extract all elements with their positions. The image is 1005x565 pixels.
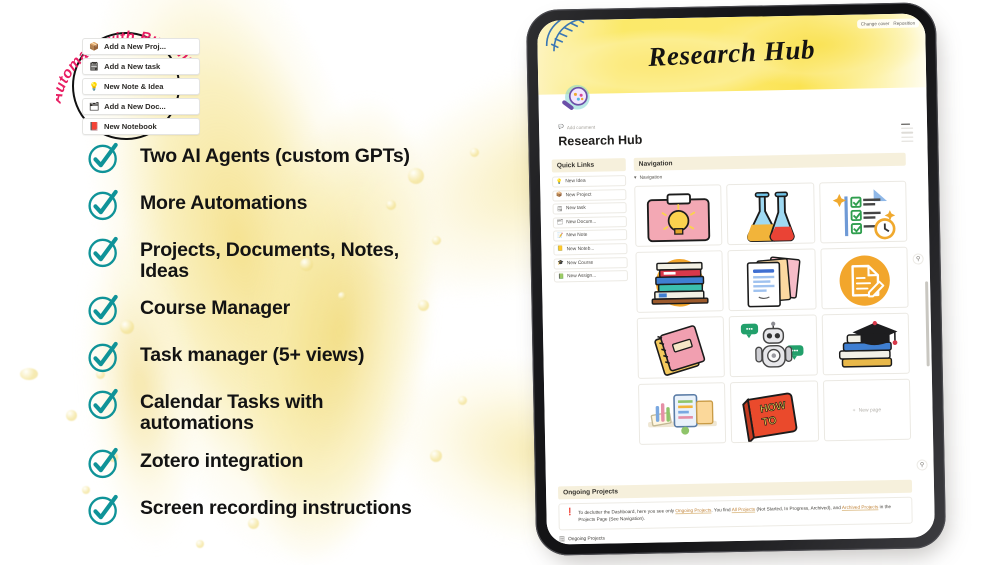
nav-card-quick-capture[interactable]: 🗃 Quick Capture <box>634 184 722 247</box>
button-label: Add a New Doc... <box>104 102 166 111</box>
button-add-new-task[interactable]: 🗒 Add a New task <box>82 58 200 75</box>
assignment-icon: 📗 <box>558 274 564 280</box>
feature-item: Screen recording instructions <box>86 494 516 528</box>
quick-link-label: New Project <box>566 192 592 197</box>
button-label: New Note & Idea <box>104 82 164 91</box>
desk-art <box>639 383 726 445</box>
feature-label: Course Manager <box>140 294 290 319</box>
quick-links-list: 💡 New Idea 📦 New Project 🗒 New task <box>552 175 628 283</box>
link-archived-projects[interactable]: Archived Projects <box>842 504 879 510</box>
graduation-icon: 🎓 <box>558 260 564 266</box>
note-circle-art <box>821 248 908 310</box>
link-all-projects[interactable]: All Projects <box>732 507 756 512</box>
quick-link-new-document[interactable]: 🗂 New Docum... <box>553 216 627 228</box>
nav-card-notebooks[interactable]: 📒 Notebooks <box>637 316 725 379</box>
comment-icon: 💬 <box>558 124 564 130</box>
navigation-card-grid: 🗃 Quick Capture <box>634 181 911 445</box>
filter-icon[interactable]: ⚲ <box>913 253 924 264</box>
robot-art: ••• ••• <box>730 315 817 377</box>
feature-label: Task manager (5+ views) <box>140 341 364 366</box>
warning-icon: ❗ <box>565 509 574 524</box>
quick-links-heading: Quick Links <box>552 158 626 172</box>
feature-label: Projects, Documents, Notes, Ideas <box>140 236 408 281</box>
button-label: Add a New Proj... <box>104 42 166 51</box>
scrollbar[interactable] <box>925 281 929 366</box>
reposition-button[interactable]: Reposition <box>893 21 915 26</box>
tablet-screen: Research Hub Change cover Reposition <box>537 13 935 544</box>
add-comment-row[interactable]: 💬 Add comment <box>558 124 595 131</box>
tablet-frame: Research Hub Change cover Reposition <box>526 2 946 556</box>
bulb-icon: 💡 <box>556 179 562 185</box>
check-circle-icon <box>86 386 122 422</box>
callout-text-2: . You find <box>711 507 731 512</box>
cover-title: Research Hub <box>537 29 926 78</box>
quick-link-label: New Noteb... <box>567 247 595 253</box>
clipboard-bulb-art <box>635 185 722 247</box>
navigation-toggle[interactable]: ▾ Navigation <box>634 170 906 181</box>
quick-link-label: New Assign... <box>567 274 596 280</box>
feature-item: Calendar Tasks with automations <box>86 388 516 433</box>
page-columns: Quick Links 💡 New Idea 📦 New Project <box>552 153 911 447</box>
nav-card-new-page[interactable]: + New page <box>823 379 911 442</box>
check-circle-icon <box>86 140 122 176</box>
feature-item: Task manager (5+ views) <box>86 341 516 375</box>
nav-card-courses[interactable]: 🎓 Courses <box>821 313 909 376</box>
new-page-label: New page <box>859 407 882 413</box>
bulb-icon: 💡 <box>89 83 99 91</box>
nav-card-reading-list[interactable]: 📚 Reading List <box>635 250 723 313</box>
callout-text-4: (Not Started, In Progress, Archived), an… <box>755 505 842 512</box>
quick-links-column: Quick Links 💡 New Idea 📦 New Project <box>552 158 631 446</box>
feature-label: Two AI Agents (custom GPTs) <box>140 142 410 167</box>
navigation-toggle-label: Navigation <box>640 175 663 180</box>
button-label: New Notebook <box>104 122 157 131</box>
automate-buttons-badge: Automate with Buttons 📦 Add a New Proj..… <box>62 8 202 148</box>
button-new-notebook[interactable]: 📕 New Notebook <box>82 118 200 135</box>
button-label: Add a New task <box>104 62 160 71</box>
documents-icon: 🗂 <box>89 103 99 111</box>
navigation-column: Navigation ▾ Navigation <box>634 153 911 445</box>
ongoing-projects-database-row[interactable]: 🗄 Ongoing Projects <box>559 528 913 542</box>
notion-page: Research Hub Change cover Reposition <box>537 13 935 544</box>
feature-list: Two AI Agents (custom GPTs) More Automat… <box>86 142 516 541</box>
database-icon: 🗄 <box>559 537 565 542</box>
check-circle-icon <box>86 492 122 528</box>
navigation-heading: Navigation <box>634 153 906 171</box>
quick-link-label: New Docum... <box>566 219 596 225</box>
ongoing-projects-heading: Ongoing Projects <box>558 480 912 500</box>
button-add-new-doc[interactable]: 🗂 Add a New Doc... <box>82 98 200 115</box>
button-add-new-project[interactable]: 📦 Add a New Proj... <box>82 38 200 55</box>
feature-item: More Automations <box>86 189 516 223</box>
feature-item: Projects, Documents, Notes, Ideas <box>86 236 516 281</box>
notebook-icon: 📒 <box>557 247 563 253</box>
notebooks-art <box>638 317 725 379</box>
note-icon: 📝 <box>557 233 563 239</box>
check-circle-icon <box>86 292 122 328</box>
cover-controls: Change cover Reposition <box>857 18 919 28</box>
book-stack-art <box>636 251 723 313</box>
tablet-mockup: Research Hub Change cover Reposition <box>526 2 946 556</box>
table-of-contents-indicator[interactable] <box>901 123 917 144</box>
check-circle-icon <box>86 445 122 481</box>
checklist-icon: 🗒 <box>89 63 99 71</box>
svg-text:TO: TO <box>762 414 778 428</box>
magnifier-icon[interactable] <box>556 82 595 121</box>
chevron-down-icon: ▾ <box>634 175 637 181</box>
feature-item: Course Manager <box>86 294 516 328</box>
quick-link-new-task[interactable]: 🗒 New task <box>553 202 627 214</box>
feature-label: Screen recording instructions <box>140 494 412 519</box>
quick-link-label: New Idea <box>565 179 585 184</box>
automation-button-list: 📦 Add a New Proj... 🗒 Add a New task 💡 N… <box>82 38 200 138</box>
svg-text:•••: ••• <box>792 348 800 355</box>
quick-link-new-course[interactable]: 🎓 New Course <box>554 257 628 269</box>
package-icon: 📦 <box>89 43 99 51</box>
nav-card-how-to-guide[interactable]: HOW TO 📙 How-To-Guide <box>730 380 818 443</box>
documents-art <box>729 249 816 311</box>
notebook-icon: 📕 <box>89 123 99 131</box>
feature-label: Calendar Tasks with automations <box>140 388 350 433</box>
check-circle-icon <box>86 339 122 375</box>
callout-text-0: To declutter the Dashboard, here you see… <box>578 508 675 515</box>
quick-link-label: New task <box>566 206 586 211</box>
nav-card-documents[interactable]: 🗂 Documents <box>728 248 816 311</box>
nav-card-tasks[interactable]: 📋 Tasks <box>819 181 907 244</box>
check-circle-icon <box>86 234 122 270</box>
nav-card-projects[interactable]: 📊 Projects <box>727 182 815 245</box>
checklist-icon: 🗒 <box>557 206 563 212</box>
database-label: Ongoing Projects <box>568 536 605 542</box>
quick-link-new-idea[interactable]: 💡 New Idea <box>552 175 626 187</box>
add-comment-label: Add comment <box>567 124 595 130</box>
quick-link-label: New Course <box>567 260 593 266</box>
checklist-clock-art <box>820 182 907 244</box>
nav-card-notes[interactable]: 🟡 Notes <box>820 247 908 310</box>
package-icon: 📦 <box>556 192 562 198</box>
flasks-art <box>728 184 815 246</box>
filter-icon[interactable]: ⚲ <box>916 459 927 470</box>
ongoing-projects-callout: ❗ To declutter the Dashboard, here you s… <box>558 497 912 530</box>
svg-text:•••: ••• <box>746 326 754 333</box>
page-title: Research Hub <box>558 133 642 149</box>
check-circle-icon <box>86 187 122 223</box>
graduation-books-art <box>822 314 909 376</box>
quick-link-new-project[interactable]: 📦 New Project <box>552 189 626 201</box>
change-cover-button[interactable]: Change cover <box>861 21 890 27</box>
link-ongoing-projects[interactable]: Ongoing Projects <box>675 508 711 514</box>
ongoing-projects-section: Ongoing Projects ❗ To declutter the Dash… <box>558 480 913 545</box>
quick-link-new-notebook[interactable]: 📒 New Noteb... <box>553 243 627 255</box>
promo-graphic: Automate with Buttons 📦 Add a New Proj..… <box>0 0 1005 565</box>
nav-card-custom-gpts[interactable]: ••• ••• <box>729 314 817 377</box>
page-cover: Research Hub Change cover Reposition <box>537 13 926 94</box>
feature-item: Two AI Agents (custom GPTs) <box>86 142 516 176</box>
feature-label: Zotero integration <box>140 447 303 472</box>
quick-link-new-note[interactable]: 📝 New Note <box>553 229 627 241</box>
button-new-note-idea[interactable]: 💡 New Note & Idea <box>82 78 200 95</box>
feature-label: More Automations <box>140 189 307 214</box>
nav-card-assignments[interactable]: 📗 Assignments <box>638 382 726 445</box>
quick-link-new-assignment[interactable]: 📗 New Assign... <box>554 270 628 282</box>
howto-book-art: HOW TO <box>731 381 818 443</box>
documents-icon: 🗂 <box>557 220 563 226</box>
plus-icon: + <box>853 407 856 413</box>
feature-item: Zotero integration <box>86 447 516 481</box>
quick-link-label: New Note <box>566 233 587 238</box>
